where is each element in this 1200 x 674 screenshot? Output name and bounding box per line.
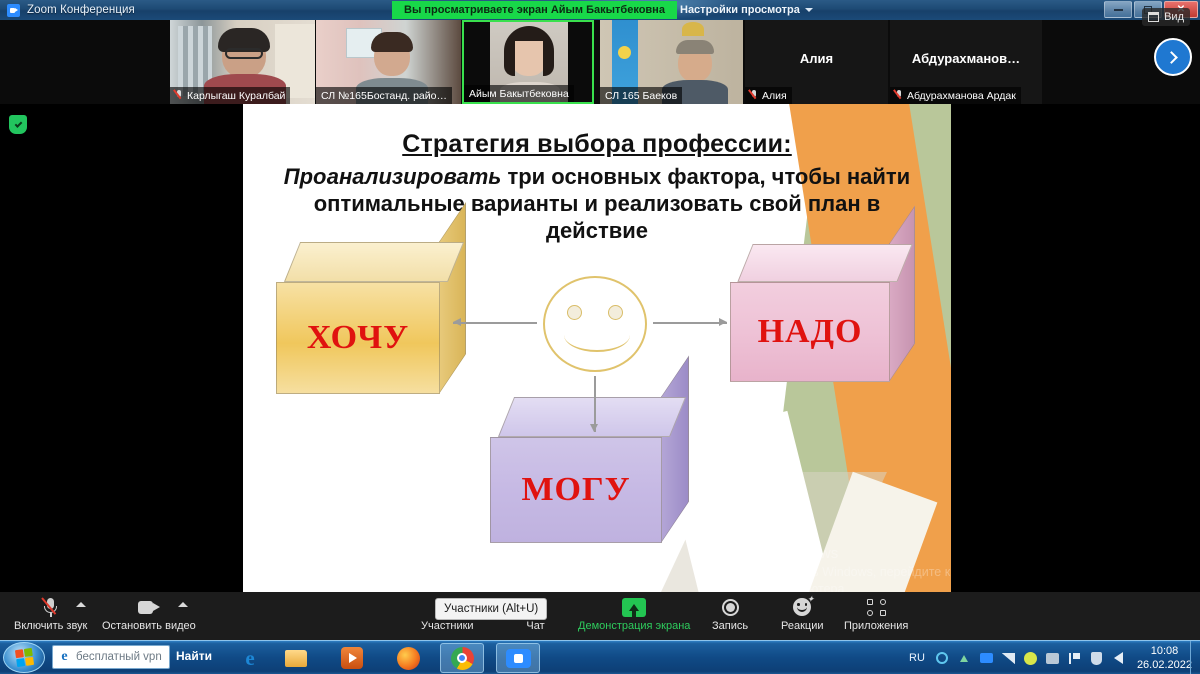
slide-heading: Стратегия выбора профессии: [243, 130, 951, 159]
zoom-tray-icon[interactable] [979, 651, 994, 666]
participant-tile[interactable]: СЛ 165 Баеков [600, 20, 743, 104]
toolbar-share-label: Демонстрация экрана [578, 620, 690, 632]
toolbar-share-screen-button[interactable]: Демонстрация экрана [572, 595, 696, 637]
zoom-app-icon [506, 649, 531, 668]
taskbar-clock[interactable]: 10:08 26.02.2022 [1137, 644, 1192, 673]
box-front-face: ХОЧУ [276, 282, 440, 394]
taskbar-media-player[interactable] [330, 643, 374, 673]
chevron-down-icon [805, 8, 813, 12]
participant-name-bar: СЛ 165 Баеков [600, 87, 682, 104]
view-button-label: Вид [1164, 11, 1184, 23]
slide-title-block: Стратегия выбора профессии: Проанализиро… [243, 130, 951, 244]
toolbar-record-button[interactable]: Запись [706, 595, 754, 637]
participant-name: Айым Бакытбековна [469, 88, 569, 100]
glasses-icon [225, 48, 263, 59]
participant-name-bar: Айым Бакытбековна [464, 85, 574, 102]
view-settings-button[interactable]: Настройки просмотра [672, 1, 821, 19]
box-label: МОГУ [521, 471, 630, 509]
signal-icon[interactable] [1001, 651, 1016, 666]
minimize-button[interactable] [1104, 1, 1132, 18]
media-player-icon [341, 647, 363, 669]
participant-name: СЛ 165 Баеков [605, 90, 677, 102]
volume-icon[interactable] [1111, 651, 1126, 666]
slide-canvas: Стратегия выбора профессии: Проанализиро… [243, 104, 951, 592]
box-front-face: МОГУ [490, 437, 662, 543]
participant-filmstrip: Карлыгаш Куралбай СЛ №165Бостанд. райо… … [0, 20, 1200, 104]
team-viewer-icon[interactable] [935, 651, 950, 666]
toolbar-participants-label: Участники [421, 620, 474, 632]
participant-name-bar: Абдурахманова Ардак [890, 87, 1021, 104]
participant-name-bar: Алия [745, 87, 792, 104]
chrome-icon [451, 647, 474, 670]
minimize-icon [1114, 9, 1123, 11]
zoom-icon [7, 4, 20, 17]
slide-subheading-italic: Проанализировать [284, 164, 502, 189]
toolbar-reactions-label: Реакции [781, 620, 824, 632]
taskbar-internet-explorer[interactable]: e [228, 643, 272, 673]
toolbar-record-label: Запись [712, 620, 748, 632]
participant-tile[interactable]: Карлыгаш Куралбай [170, 20, 315, 104]
flag-icon[interactable] [1067, 651, 1082, 666]
participant-tile[interactable]: СЛ №165Бостанд. райо… [316, 20, 461, 104]
taskbar-zoom[interactable] [496, 643, 540, 673]
slide-subheading: Проанализировать три основных фактора, ч… [243, 164, 951, 244]
system-tray: RU 10:08 26.02.2022 [909, 641, 1200, 674]
clock-date: 26.02.2022 [1137, 658, 1192, 672]
box-label: НАДО [758, 313, 863, 351]
diagram-box-hochu: ХОЧУ [276, 282, 440, 394]
box-top-face [284, 242, 464, 282]
flag-sun [618, 46, 631, 59]
chevron-right-icon [1165, 51, 1178, 64]
participant-name-bar: Карлыгаш Куралбай [170, 87, 290, 104]
emblem-icon [682, 22, 704, 36]
microphone-muted-icon [44, 597, 58, 617]
diagram-box-mogu: МОГУ [490, 437, 662, 543]
toolbar-apps-button[interactable]: Приложения [838, 595, 914, 637]
windows-flag [14, 648, 33, 667]
arrow-left-icon [453, 322, 537, 324]
windows-start-icon[interactable] [3, 642, 45, 673]
taskbar-firefox[interactable] [386, 643, 430, 673]
participant-name: СЛ №165Бостанд. райо… [321, 90, 447, 102]
diagram-box-nado: НАДО [730, 282, 890, 382]
participant-tile[interactable]: Алия Алия [745, 20, 888, 104]
camera-icon [138, 597, 160, 617]
presentation-slide: Стратегия выбора профессии: Проанализиро… [120, 104, 1074, 592]
participant-tile[interactable]: Абдурахманов… Абдурахманова Ардак [890, 20, 1042, 104]
person-hair [676, 40, 714, 54]
taskbar-chrome[interactable] [440, 643, 484, 673]
update-icon[interactable] [1023, 651, 1038, 666]
check-mark [14, 120, 22, 128]
person-hair [371, 32, 413, 52]
microphone-muted-icon [175, 90, 183, 102]
language-indicator[interactable]: RU [909, 652, 925, 664]
taskbar-explorer[interactable] [274, 643, 318, 673]
toolbar-chat-label: Чат [526, 620, 544, 632]
find-button[interactable]: Найти [176, 649, 212, 663]
upload-arrow-icon[interactable] [957, 651, 972, 666]
window-title: Zoom Конференция [27, 4, 135, 16]
arrow-right-icon [653, 322, 727, 324]
shield-check-icon[interactable] [9, 115, 27, 134]
internet-explorer-icon: e [57, 650, 72, 665]
video-options-caret-icon[interactable] [178, 602, 188, 607]
internet-explorer-icon: e [245, 646, 254, 671]
clock-time: 10:08 [1137, 644, 1192, 658]
window-titlebar: Zoom Конференция Вы просматриваете экран… [0, 0, 1200, 20]
reactions-icon: ✦ [793, 597, 811, 617]
participant-name-bar: СЛ №165Бостанд. райо… [316, 87, 452, 104]
participant-name: Абдурахманова Ардак [907, 90, 1016, 102]
share-screen-icon [622, 597, 646, 617]
toolbar-video-label: Остановить видео [102, 620, 196, 632]
network-icon[interactable] [1045, 651, 1060, 666]
search-input-value: бесплатный vpn [76, 651, 162, 663]
toolbar-reactions-button[interactable]: ✦ Реакции [775, 595, 830, 637]
record-icon [722, 597, 739, 617]
participant-tile-active-speaker[interactable]: Айым Бакытбековна [462, 20, 594, 104]
participant-name: Карлыгаш Куралбай [187, 90, 285, 102]
search-input[interactable]: e бесплатный vpn [52, 645, 170, 669]
box-label: ХОЧУ [307, 319, 409, 357]
participants-tooltip: Участники (Alt+U) [435, 598, 547, 620]
toolbar-mute-label: Включить звук [14, 620, 87, 632]
smiley-mouth [564, 318, 630, 352]
view-layout-button[interactable]: Вид [1142, 8, 1190, 26]
audio-options-caret-icon[interactable] [76, 602, 86, 607]
grid-icon [1148, 12, 1159, 22]
microphone-muted-icon [750, 90, 758, 102]
microphone-muted-icon [895, 90, 903, 102]
smiley-face-icon [543, 276, 647, 372]
next-page-button[interactable] [1154, 38, 1192, 76]
screen-share-banner: Вы просматриваете экран Айым Бакытбековн… [392, 1, 677, 19]
box-front-face: НАДО [730, 282, 890, 382]
apps-icon [867, 597, 886, 617]
show-desktop-button[interactable] [1190, 641, 1200, 674]
zoom-toolbar: Включить звук Остановить видео Участники… [0, 592, 1200, 640]
participant-name: Алия [762, 90, 787, 102]
view-settings-label: Настройки просмотра [680, 4, 800, 16]
box-top-face [737, 244, 912, 282]
toolbar-apps-label: Приложения [844, 620, 908, 632]
arrow-down-icon [594, 376, 596, 432]
windows-taskbar: e бесплатный vpn Найти e RU [0, 640, 1200, 674]
firefox-icon [397, 647, 420, 670]
security-icon[interactable] [1089, 651, 1104, 666]
explorer-folder-icon [285, 650, 307, 667]
shared-screen-area: Стратегия выбора профессии: Проанализиро… [0, 104, 1200, 592]
